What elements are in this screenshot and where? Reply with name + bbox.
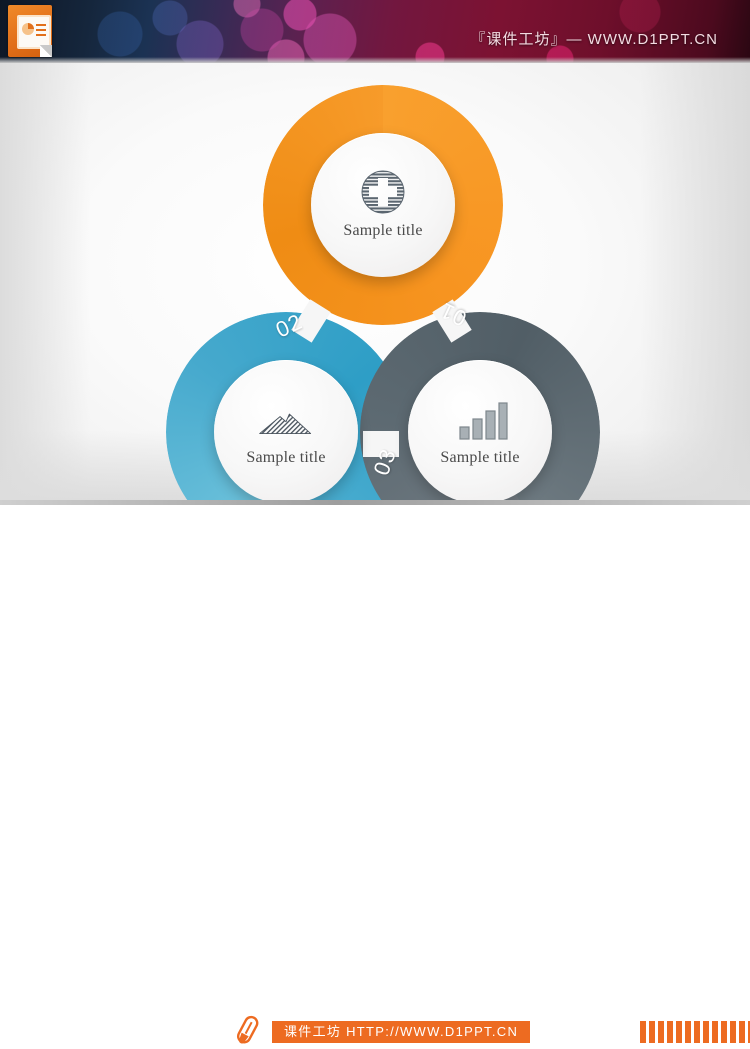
hub-card-03[interactable]: Sample title: [408, 360, 552, 504]
slide-canvas: Sample title Sample title: [0, 63, 750, 500]
hub-label-03: Sample title: [440, 449, 519, 467]
pen-icon: [232, 1013, 262, 1049]
three-ring-infographic: Sample title Sample title: [0, 63, 750, 500]
medical-cross-icon: [355, 170, 411, 216]
top-banner: 『课件工坊』— WWW.D1PPT.CN: [0, 0, 750, 63]
hub-card-01[interactable]: Sample title: [311, 133, 455, 277]
banner-title: 『课件工坊』— WWW.D1PPT.CN: [471, 28, 719, 49]
area-chart-icon: [258, 397, 314, 443]
hub-label-02: Sample title: [246, 449, 325, 467]
footer-stripes: [640, 1021, 750, 1043]
footer-bar: 课件工坊 HTTP://WWW.D1PPT.CN: [0, 500, 750, 563]
powerpoint-icon: [6, 3, 56, 59]
hub-label-01: Sample title: [343, 222, 422, 240]
footer-text: 课件工坊 HTTP://WWW.D1PPT.CN: [272, 1021, 530, 1043]
bar-chart-icon: [452, 397, 508, 443]
hub-card-02[interactable]: Sample title: [214, 360, 358, 504]
footer-top-edge: [0, 500, 750, 505]
